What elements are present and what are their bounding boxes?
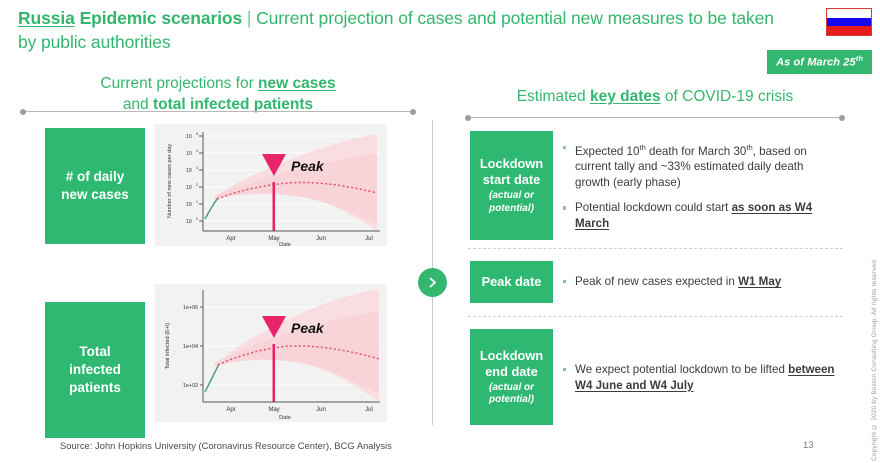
svg-text:5: 5: [196, 132, 198, 136]
row-label-main-0: Lockdown start date: [480, 156, 543, 188]
next-step-arrow-button[interactable]: [418, 268, 447, 297]
right-title-prefix: Estimated: [517, 88, 590, 105]
right-section-title: Estimated key dates of COVID-19 crisis: [465, 86, 845, 107]
svg-text:2: 2: [196, 183, 198, 187]
peak-annotation: Peak: [291, 158, 325, 174]
svg-text:1e+02: 1e+02: [183, 383, 198, 389]
bullet-item: We expect potential lockdown to be lifte…: [562, 362, 837, 393]
label-daily-new-cases-text: # of daily new cases: [61, 168, 129, 204]
y-axis-label-2: Total infected (E+I): [165, 322, 171, 369]
chart-total-infected-svg: Peak 1e+02 1e+04 1e+06 Apr May Jun Jul D…: [155, 284, 387, 422]
x-axis-label-2: Date: [279, 415, 291, 421]
right-title-underline: key dates: [590, 88, 661, 105]
svg-text:1e+04: 1e+04: [183, 344, 198, 350]
svg-text:3: 3: [196, 166, 198, 170]
svg-text:10: 10: [186, 202, 192, 208]
svg-text:4: 4: [196, 149, 198, 153]
label-total-infected-patients: Total infected patients: [45, 302, 145, 438]
row-label-main-1: Peak date: [482, 274, 542, 290]
bullet-item: Peak of new cases expected in W1 May: [562, 274, 837, 290]
row-separator-2: [468, 316, 843, 317]
row-label-lockdown-end-date: Lockdown end date (actual or potential): [470, 329, 553, 425]
label-daily-new-cases: # of daily new cases: [45, 128, 145, 244]
slide-header: Russia Epidemic scenarios | Current proj…: [18, 6, 788, 54]
row-label-peak-date: Peak date: [470, 261, 553, 303]
bullet-item: Potential lockdown could start as soon a…: [562, 200, 837, 231]
as-of-badge: As of March 25th: [767, 50, 872, 74]
label-total-infected-patients-text: Total infected patients: [69, 343, 121, 397]
bullet-emphasis: W1 May: [738, 275, 781, 288]
slide: Russia Epidemic scenarios | Current proj…: [0, 0, 880, 463]
svg-text:Apr: Apr: [226, 236, 235, 242]
copyright-text: Copyright © 2020 by Boston Consulting Gr…: [871, 258, 878, 461]
title-country: Russia: [18, 8, 75, 28]
svg-text:May: May: [268, 407, 279, 413]
chevron-right-icon: [426, 276, 439, 289]
row-bullets-lockdown-end-date: We expect potential lockdown to be lifte…: [562, 362, 837, 393]
russia-flag-icon: [826, 8, 872, 36]
as-of-suffix: th: [856, 54, 863, 63]
svg-text:Jun: Jun: [316, 236, 326, 242]
left-section-rule: [20, 107, 416, 117]
svg-text:1: 1: [196, 200, 198, 204]
svg-text:10: 10: [186, 134, 192, 140]
bullet-emphasis: as soon as W4 March: [575, 201, 812, 230]
x-axis-label: Date: [279, 242, 291, 246]
as-of-label: As of March 25: [776, 57, 856, 69]
page-title: Russia Epidemic scenarios | Current proj…: [18, 6, 788, 54]
svg-text:Jun: Jun: [316, 407, 326, 413]
chart-daily-new-cases: Peak 100 101 102 103 104 105: [155, 124, 387, 246]
row-separator-1: [468, 248, 843, 249]
chart-total-infected: Peak 1e+02 1e+04 1e+06 Apr May Jun Jul D…: [155, 284, 387, 422]
svg-text:Jul: Jul: [365, 236, 373, 242]
row-label-sub-2: (actual or potential): [489, 382, 534, 407]
bullet-emphasis: between W4 June and W4 July: [575, 363, 835, 392]
row-label-lockdown-start-date: Lockdown start date (actual or potential…: [470, 131, 553, 240]
svg-text:Apr: Apr: [226, 407, 235, 413]
svg-text:0: 0: [196, 217, 198, 221]
title-separator: |: [247, 8, 251, 28]
title-bold: Epidemic scenarios: [80, 8, 243, 28]
svg-text:May: May: [268, 236, 279, 242]
svg-text:10: 10: [186, 168, 192, 174]
page-number: 13: [803, 440, 814, 451]
row-label-sub-0: (actual or potential): [489, 190, 534, 215]
peak-annotation-2: Peak: [291, 320, 325, 336]
right-section-rule: [465, 113, 845, 123]
chart-daily-new-cases-svg: Peak 100 101 102 103 104 105: [155, 124, 387, 246]
right-title-suffix: of COVID-19 crisis: [661, 88, 794, 105]
row-label-main-2: Lockdown end date: [480, 348, 543, 380]
row-bullets-lockdown-start-date: Expected 10th death for March 30th, base…: [562, 140, 837, 231]
bullet-item: Expected 10th death for March 30th, base…: [562, 140, 837, 190]
row-bullets-peak-date: Peak of new cases expected in W1 May: [562, 274, 837, 290]
y-axis-label: Number of new cases per day: [167, 144, 173, 219]
svg-text:10: 10: [186, 219, 192, 225]
svg-text:Jul: Jul: [365, 407, 373, 413]
left-title-prefix: Current projections for: [100, 75, 258, 92]
svg-text:1e+06: 1e+06: [183, 305, 198, 311]
source-note: Source: John Hopkins University (Coronav…: [60, 441, 392, 451]
svg-text:10: 10: [186, 185, 192, 191]
left-title-underline-1: new cases: [258, 75, 336, 92]
svg-text:10: 10: [186, 151, 192, 157]
